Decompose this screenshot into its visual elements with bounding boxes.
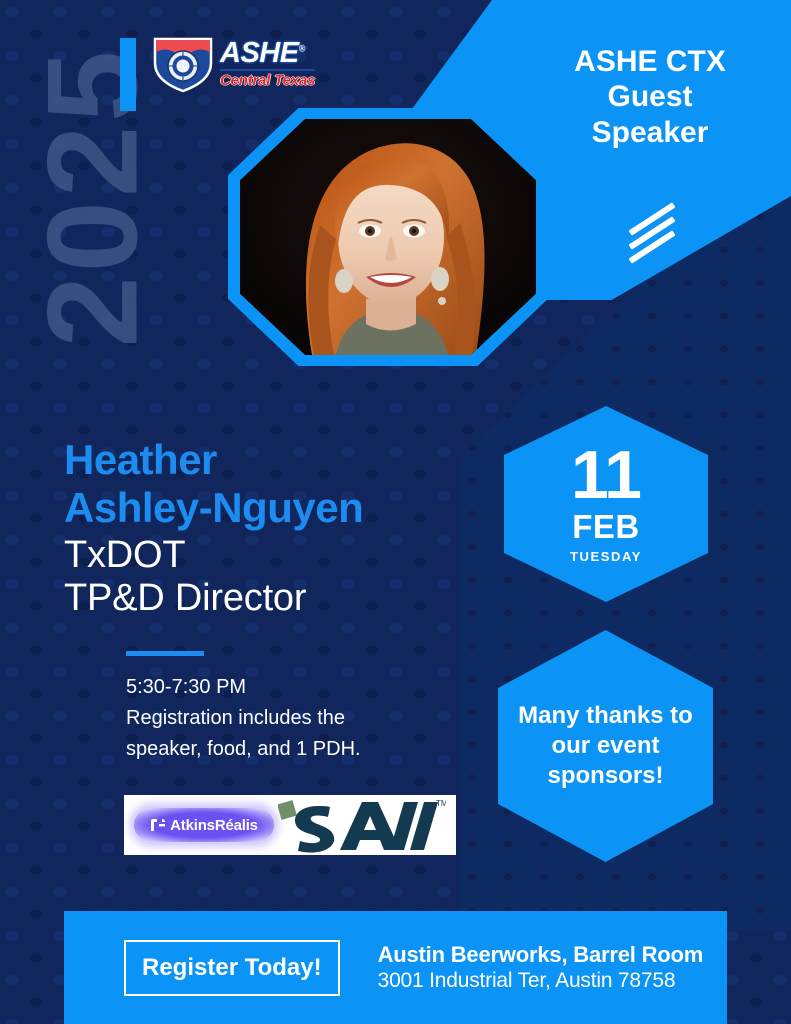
speaker-portrait xyxy=(240,119,536,355)
ashe-logo: ASHE® Central Texas xyxy=(152,32,322,94)
ashe-logo-rule xyxy=(220,69,315,71)
sponsor-logo-bar: AtkinsRéalis TM xyxy=(124,795,456,855)
event-time: 5:30-7:30 PM xyxy=(126,672,456,703)
speaker-title: TP&D Director xyxy=(64,577,484,620)
section-divider xyxy=(126,651,204,656)
venue-block: Austin Beerworks, Barrel Room 3001 Indus… xyxy=(378,941,704,995)
banner-line-2: Guest xyxy=(520,79,780,114)
venue-name: Austin Beerworks, Barrel Room xyxy=(378,941,704,969)
date-month: FEB xyxy=(572,510,640,545)
date-weekday: TUESDAY xyxy=(570,549,642,564)
banner-line-1: ASHE CTX xyxy=(520,44,780,79)
speaker-last-name: Ashley-Nguyen xyxy=(64,484,484,532)
banner-line-3: Speaker xyxy=(520,115,780,150)
date-day: 11 xyxy=(571,444,641,507)
ashe-shield-icon xyxy=(152,33,214,93)
register-button[interactable]: Register Today! xyxy=(124,940,340,996)
footer-bar: Register Today! Austin Beerworks, Barrel… xyxy=(64,911,727,1024)
atkins-mark-icon xyxy=(150,818,166,832)
sponsor-thanks-text: Many thanks to our event sponsors! xyxy=(498,701,713,792)
diagonal-stripes-icon xyxy=(626,210,682,260)
speaker-org: TxDOT xyxy=(64,534,484,577)
year-accent-bar xyxy=(120,38,136,111)
sam-trademark: TM xyxy=(436,799,446,808)
event-flyer: 2025 ASHE® Central Texas xyxy=(0,0,791,1024)
ashe-wordmark: ASHE® xyxy=(220,39,315,68)
event-details: 5:30-7:30 PM Registration includes the s… xyxy=(126,672,456,765)
speaker-first-name: Heather xyxy=(64,436,484,484)
atkins-realis-wordmark: AtkinsRéalis xyxy=(170,817,258,834)
ashe-logo-text: ASHE® Central Texas xyxy=(220,39,315,88)
speaker-name-block: Heather Ashley-Nguyen TxDOT TP&D Directo… xyxy=(64,436,484,620)
atkins-realis-logo: AtkinsRéalis xyxy=(134,808,274,842)
year-watermark: 2025 xyxy=(29,47,157,348)
sam-logo: TM xyxy=(278,796,446,854)
event-detail-line-3: speaker, food, and 1 PDH. xyxy=(126,734,456,765)
banner-heading: ASHE CTX Guest Speaker xyxy=(520,44,780,150)
ashe-chapter-label: Central Texas xyxy=(220,73,315,88)
event-detail-line-2: Registration includes the xyxy=(126,703,456,734)
speaker-portrait-frame xyxy=(228,108,548,366)
venue-address: 3001 Industrial Ter, Austin 78758 xyxy=(378,968,704,994)
